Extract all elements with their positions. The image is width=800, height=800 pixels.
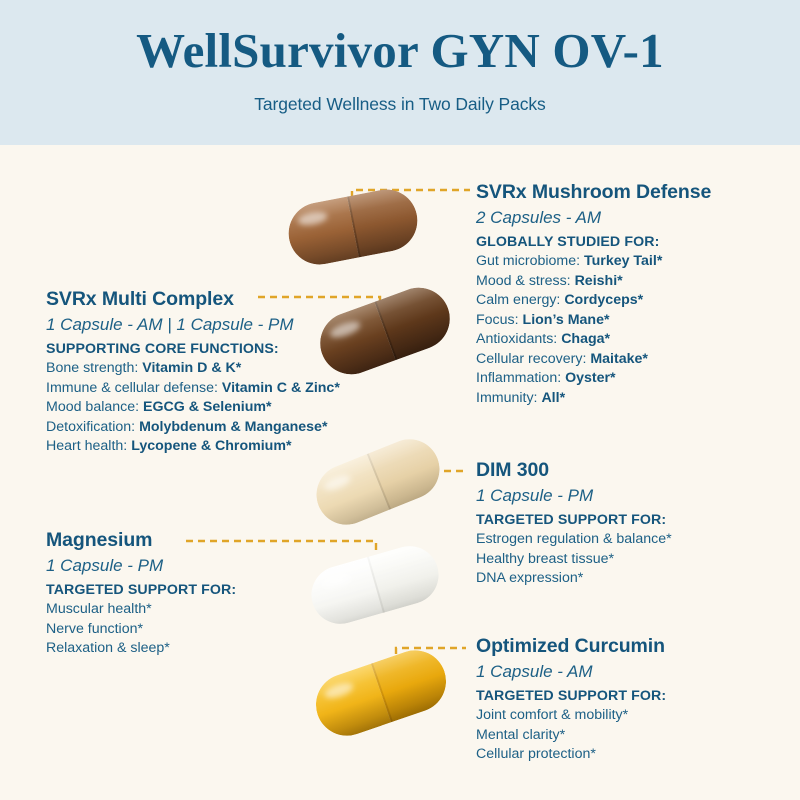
list-item: Mental clarity*: [476, 726, 666, 746]
callout-dim-300: DIM 300 1 Capsule - PM TARGETED SUPPORT …: [476, 459, 672, 589]
list-item: Immune & cellular defense: Vitamin C & Z…: [46, 379, 340, 399]
list-item: Muscular health*: [46, 600, 236, 620]
list-item: Heart health: Lycopene & Chromium*: [46, 437, 340, 457]
callout-title: Magnesium: [46, 529, 236, 552]
callout-dose: 2 Capsules - AM: [476, 208, 711, 228]
callout-title: SVRx Multi Complex: [46, 288, 340, 311]
callout-heading: TARGETED SUPPORT FOR:: [46, 582, 236, 598]
list-item: DNA expression*: [476, 569, 672, 589]
list-item: Antioxidants: Chaga*: [476, 330, 711, 350]
list-item: Inflammation: Oyster*: [476, 369, 711, 389]
list-item: Mood & stress: Reishi*: [476, 272, 711, 292]
list-item: Cellular recovery: Maitake*: [476, 350, 711, 370]
list-item: Estrogen regulation & balance*: [476, 530, 672, 550]
magnesium-capsule: [305, 539, 446, 631]
list-item: Mood balance: EGCG & Selenium*: [46, 398, 340, 418]
callout-heading: GLOBALLY STUDIED FOR:: [476, 234, 711, 250]
callout-dose: 1 Capsule - PM: [46, 556, 236, 576]
list-item: Joint comfort & mobility*: [476, 706, 666, 726]
list-item: Immunity: All*: [476, 389, 711, 409]
list-item: Bone strength: Vitamin D & K*: [46, 359, 340, 379]
callout-title: Optimized Curcumin: [476, 635, 666, 658]
callout-heading: TARGETED SUPPORT FOR:: [476, 688, 666, 704]
page-title: WellSurvivor GYN OV-1: [0, 22, 800, 79]
list-item: Cellular protection*: [476, 745, 666, 765]
callout-heading: TARGETED SUPPORT FOR:: [476, 512, 672, 528]
callout-list: Bone strength: Vitamin D & K* Immune & c…: [46, 359, 340, 457]
callout-curcumin: Optimized Curcumin 1 Capsule - AM TARGET…: [476, 635, 666, 765]
callout-title: SVRx Mushroom Defense: [476, 181, 711, 204]
list-item: Gut microbiome: Turkey Tail*: [476, 252, 711, 272]
callout-heading: SUPPORTING CORE FUNCTIONS:: [46, 341, 340, 357]
curcumin-capsule: [308, 642, 455, 744]
callout-title: DIM 300: [476, 459, 672, 482]
callout-multi-complex: SVRx Multi Complex 1 Capsule - AM | 1 Ca…: [46, 288, 340, 457]
mushroom-defense-capsule: [283, 184, 422, 270]
callout-dose: 1 Capsule - AM | 1 Capsule - PM: [46, 315, 340, 335]
callout-list: Gut microbiome: Turkey Tail* Mood & stre…: [476, 252, 711, 408]
list-item: Nerve function*: [46, 620, 236, 640]
callout-magnesium: Magnesium 1 Capsule - PM TARGETED SUPPOR…: [46, 529, 236, 659]
list-item: Relaxation & sleep*: [46, 639, 236, 659]
list-item: Detoxification: Molybdenum & Manganese*: [46, 418, 340, 438]
callout-list: Joint comfort & mobility* Mental clarity…: [476, 706, 666, 765]
callout-list: Muscular health* Nerve function* Relaxat…: [46, 600, 236, 659]
list-item: Healthy breast tissue*: [476, 550, 672, 570]
callout-dose: 1 Capsule - AM: [476, 662, 666, 682]
callout-dose: 1 Capsule - PM: [476, 486, 672, 506]
list-item: Focus: Lion’s Mane*: [476, 311, 711, 331]
list-item: Calm energy: Cordyceps*: [476, 291, 711, 311]
callout-mushroom-defense: SVRx Mushroom Defense 2 Capsules - AM GL…: [476, 181, 711, 408]
callout-list: Estrogen regulation & balance* Healthy b…: [476, 530, 672, 589]
page-subtitle: Targeted Wellness in Two Daily Packs: [0, 94, 800, 115]
